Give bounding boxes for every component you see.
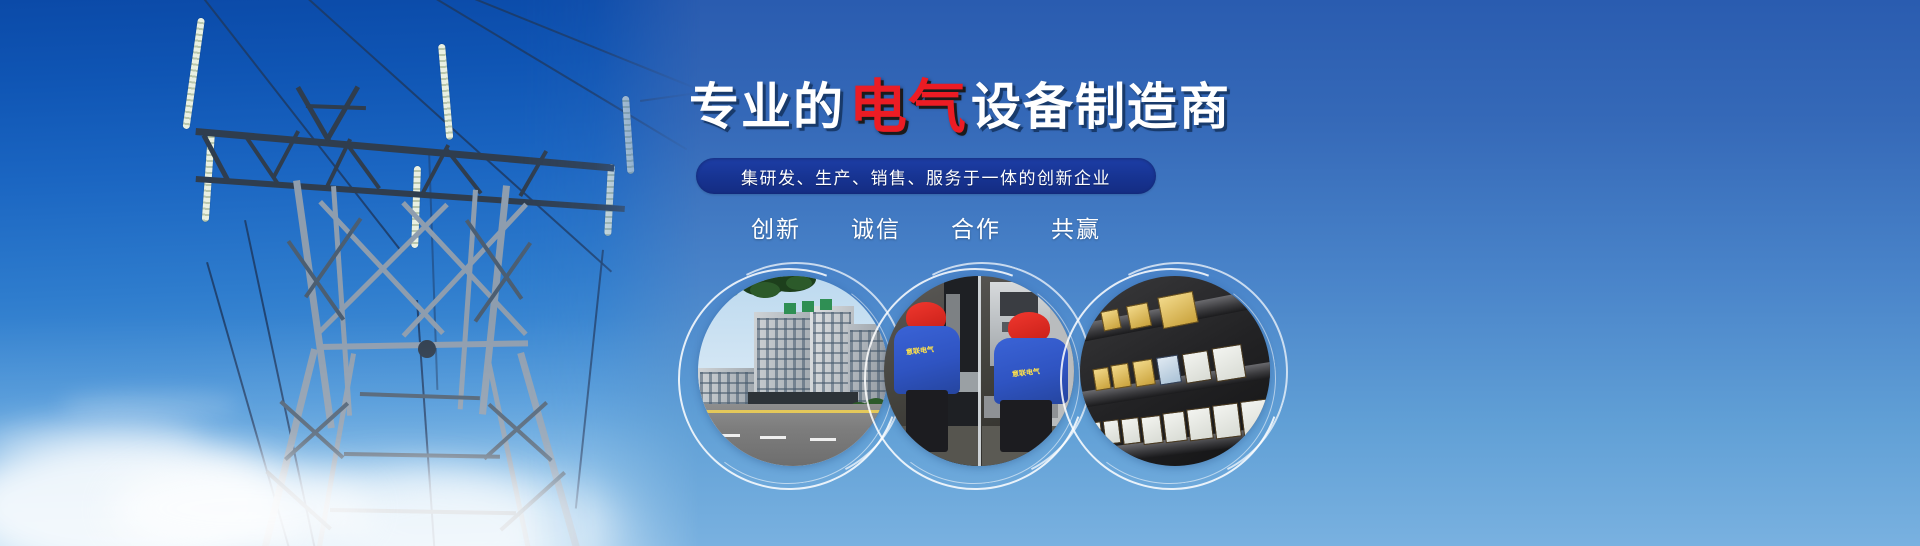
promotional-banner: 专业的电气设备制造商 集研发、生产、销售、服务于一体的创新企业 创新 诚信 合作… xyxy=(0,0,1920,546)
photo-circle-certificates[interactable] xyxy=(1058,262,1290,494)
keyword-innovation: 创新 xyxy=(751,210,801,244)
certificate-wall-photo xyxy=(1080,276,1270,466)
banner-headline: 专业的电气设备制造商 xyxy=(660,76,1260,134)
headline-part-2: 设备制造商 xyxy=(971,82,1231,132)
headline-highlight: 电气 xyxy=(849,79,967,137)
transmission-tower-photo xyxy=(0,0,700,546)
keyword-cooperation: 合作 xyxy=(951,210,1001,244)
keyword-winwin: 共赢 xyxy=(1051,210,1101,244)
photo-circle-group: 意联电气 意联电气 xyxy=(660,262,1200,502)
road xyxy=(698,404,888,466)
subtitle-pill: 集研发、生产、销售、服务于一体的创新企业 xyxy=(696,158,1156,194)
cloud xyxy=(110,461,370,546)
keyword-list: 创新 诚信 合作 共赢 xyxy=(696,210,1156,244)
headline-part-1: 专业的 xyxy=(689,82,845,132)
keyword-integrity: 诚信 xyxy=(851,210,901,244)
office-building-photo xyxy=(698,276,888,466)
technicians-at-work-photo: 意联电气 意联电气 xyxy=(884,276,1074,466)
subtitle-text: 集研发、生产、销售、服务于一体的创新企业 xyxy=(741,164,1111,189)
